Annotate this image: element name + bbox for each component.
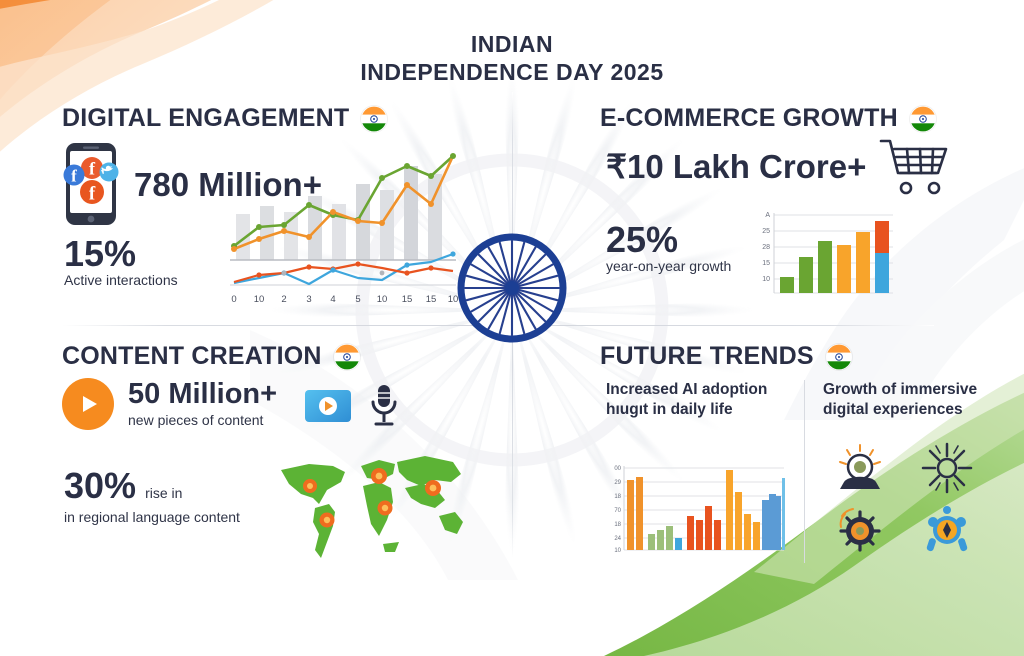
svg-text:15: 15 bbox=[402, 294, 413, 305]
content-creation-percent-caption: in regional language content bbox=[64, 509, 240, 526]
section-ecommerce-growth: E-COMMERCE GROWTH ₹10 Lakh Crore+ bbox=[600, 104, 1000, 319]
svg-text:18: 18 bbox=[614, 494, 621, 500]
future-trends-immersive-column: Growth of immersive digital experiences bbox=[804, 380, 984, 563]
india-flag-badge-icon bbox=[361, 106, 387, 132]
svg-text:10: 10 bbox=[614, 548, 621, 554]
svg-text:f: f bbox=[89, 159, 96, 179]
digital-engagement-percent: 15% bbox=[64, 236, 178, 272]
svg-text:0: 0 bbox=[231, 294, 236, 305]
vr-lamp-icon bbox=[834, 442, 886, 494]
digital-engagement-percent-block: 15% Active interactions bbox=[64, 236, 178, 289]
svg-text:25: 25 bbox=[762, 228, 770, 235]
title-line-1: INDIAN bbox=[0, 30, 1024, 58]
sun-burst-icon bbox=[921, 442, 973, 494]
title-line-2: INDEPENDENCE DAY 2025 bbox=[0, 58, 1024, 86]
content-creation-stat-caption: new pieces of content bbox=[128, 412, 277, 429]
infographic-canvas: INDIAN INDEPENDENCE DAY 2025 bbox=[0, 0, 1024, 576]
content-creation-stat-row: 50 Million+ new pieces of content bbox=[62, 378, 277, 430]
page-title: INDIAN INDEPENDENCE DAY 2025 bbox=[0, 30, 1024, 86]
y-axis-ticks: 002918 70182410 bbox=[614, 466, 621, 554]
right-caption-line-1: Growth of immersive bbox=[823, 380, 984, 400]
svg-text:4: 4 bbox=[330, 294, 335, 305]
svg-text:3: 3 bbox=[306, 294, 311, 305]
content-creation-stat: 50 Million+ bbox=[128, 380, 277, 409]
svg-text:28: 28 bbox=[762, 244, 770, 251]
left-caption-line-1: Increased AI adoption bbox=[606, 380, 786, 400]
video-player-icon bbox=[305, 390, 351, 422]
svg-text:29: 29 bbox=[614, 480, 621, 486]
india-flag-badge-icon bbox=[826, 344, 852, 370]
shopping-cart-icon bbox=[878, 136, 950, 198]
x-axis-ticks: 0102 345 10151510 bbox=[231, 294, 458, 305]
svg-text:24: 24 bbox=[614, 536, 621, 542]
ecommerce-growth-header: E-COMMERCE GROWTH bbox=[600, 104, 1000, 133]
india-flag-badge-icon bbox=[910, 106, 936, 132]
left-caption-line-2: hıugıt in daily life bbox=[606, 400, 786, 420]
svg-text:10: 10 bbox=[448, 294, 459, 305]
svg-text:f: f bbox=[71, 167, 77, 186]
right-caption-line-2: digital experiences bbox=[823, 400, 984, 420]
svg-text:00: 00 bbox=[614, 466, 621, 472]
future-trends-ai-column: Increased AI adoption hıugıt in daily li… bbox=[606, 380, 786, 563]
future-trends-chart: 002918 70182410 bbox=[606, 462, 786, 558]
svg-text:15: 15 bbox=[762, 260, 770, 267]
future-trends-header: FUTURE TRENDS bbox=[600, 342, 1000, 371]
svg-text:A: A bbox=[765, 212, 770, 219]
smartphone-social-icon: f f f bbox=[62, 142, 120, 226]
section-future-trends: FUTURE TRENDS Increased AI adoption bbox=[600, 342, 1000, 562]
map-landmasses bbox=[281, 456, 463, 558]
ecommerce-growth-title: E-COMMERCE GROWTH bbox=[600, 104, 898, 133]
future-trends-icon-grid bbox=[823, 442, 984, 556]
svg-text:70: 70 bbox=[614, 508, 621, 514]
ecommerce-growth-percent-caption: year-on-year growth bbox=[606, 258, 731, 275]
content-creation-percent-inline: rise in bbox=[145, 485, 182, 502]
future-trends-left-caption: Increased AI adoption hıugıt in daily li… bbox=[606, 380, 786, 420]
robot-orb-icon bbox=[921, 504, 973, 556]
content-creation-title: CONTENT CREATION bbox=[62, 342, 322, 371]
svg-text:f: f bbox=[89, 184, 96, 205]
world-map-hotspots bbox=[275, 446, 470, 564]
gear-orb-icon bbox=[834, 504, 886, 556]
section-content-creation: CONTENT CREATION 50 Million+ bbox=[62, 342, 462, 562]
ecommerce-growth-stat: ₹10 Lakh Crore+ bbox=[606, 150, 866, 183]
chart-bars bbox=[780, 221, 889, 293]
svg-text:10: 10 bbox=[377, 294, 388, 305]
india-flag-badge-icon bbox=[334, 344, 360, 370]
content-creation-percent: 30% bbox=[64, 468, 136, 504]
content-creation-header: CONTENT CREATION bbox=[62, 342, 462, 371]
play-button-icon bbox=[62, 378, 114, 430]
ecommerce-growth-percent-block: 25% year-on-year growth bbox=[606, 222, 731, 275]
svg-text:15: 15 bbox=[426, 294, 437, 305]
svg-text:10: 10 bbox=[762, 276, 770, 283]
content-creation-media-icons bbox=[305, 384, 399, 428]
ashoka-chakra-icon bbox=[452, 228, 572, 348]
digital-engagement-chart: 0102 345 10151510 bbox=[222, 142, 462, 307]
future-trends-right-caption: Growth of immersive digital experiences bbox=[823, 380, 984, 420]
content-creation-percent-block: 30% rise in in regional language content bbox=[64, 468, 240, 526]
microphone-icon bbox=[369, 384, 399, 428]
future-trends-columns: Increased AI adoption hıugıt in daily li… bbox=[606, 380, 1000, 563]
ecommerce-growth-percent: 25% bbox=[606, 222, 731, 258]
svg-text:2: 2 bbox=[281, 294, 286, 305]
digital-engagement-title: DIGITAL ENGAGEMENT bbox=[62, 104, 349, 133]
ecommerce-growth-chart: A2528 1510 bbox=[750, 209, 895, 301]
svg-text:18: 18 bbox=[614, 522, 621, 528]
section-digital-engagement: DIGITAL ENGAGEMENT bbox=[62, 104, 462, 319]
digital-engagement-header: DIGITAL ENGAGEMENT bbox=[62, 104, 462, 133]
future-trends-title: FUTURE TRENDS bbox=[600, 342, 814, 371]
svg-text:5: 5 bbox=[355, 294, 360, 305]
svg-text:10: 10 bbox=[254, 294, 265, 305]
digital-engagement-percent-caption: Active interactions bbox=[64, 272, 178, 289]
y-axis-ticks: A2528 1510 bbox=[762, 212, 770, 283]
